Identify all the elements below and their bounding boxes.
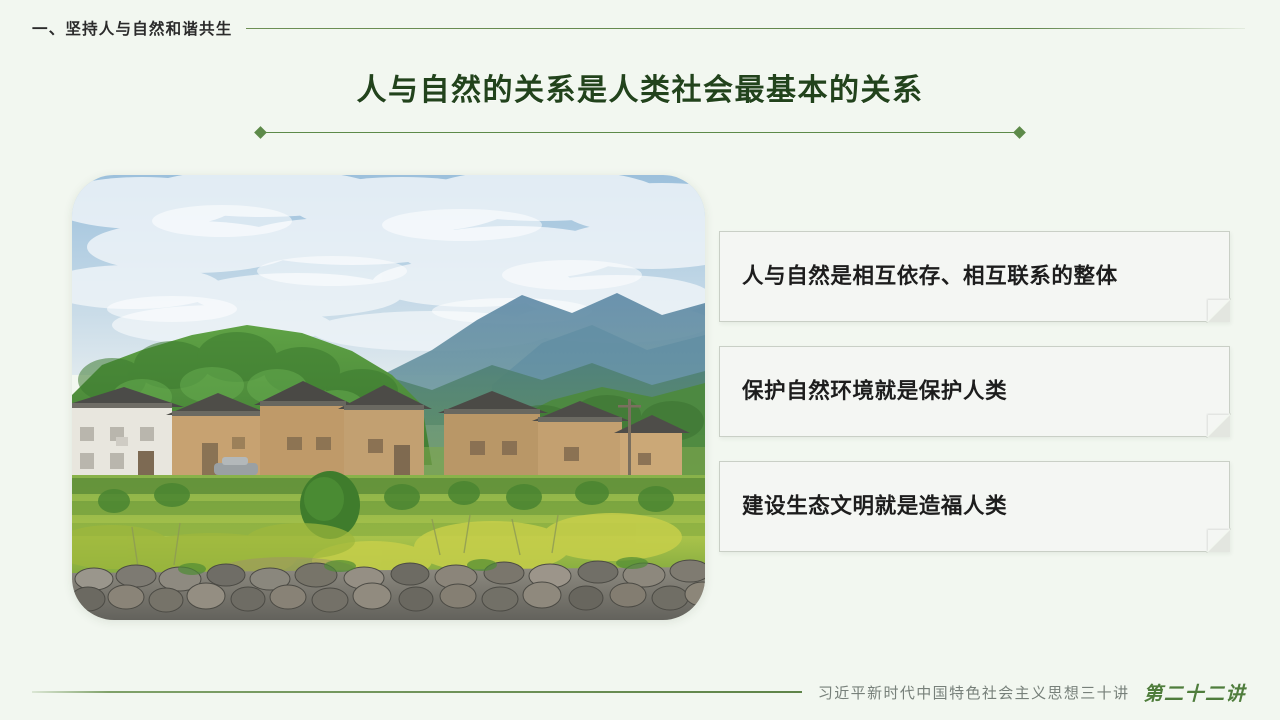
footer-divider-line xyxy=(32,691,802,692)
section-label: 一、坚持人与自然和谐共生 xyxy=(32,17,232,39)
statement-card[interactable]: 保护自然环境就是保护人类 xyxy=(719,346,1230,437)
statement-card-text: 建设生态文明就是造福人类 xyxy=(720,493,1033,521)
slide-root: 一、坚持人与自然和谐共生 人与自然的关系是人类社会最基本的关系 xyxy=(0,0,1280,720)
statement-card[interactable]: 建设生态文明就是造福人类 xyxy=(719,461,1230,552)
footer-lecture-number: 第二十二讲 xyxy=(1143,679,1246,706)
slide-header: 一、坚持人与自然和谐共生 xyxy=(0,0,1280,56)
title-divider xyxy=(256,128,1024,137)
card-fold-line xyxy=(1206,528,1231,553)
title-block: 人与自然的关系是人类社会最基本的关系 xyxy=(0,72,1280,137)
photo-illustration xyxy=(72,175,705,620)
header-divider-line xyxy=(246,28,1245,29)
footer-series-title: 习近平新时代中国特色社会主义思想三十讲 xyxy=(818,682,1130,703)
statement-card-text: 人与自然是相互依存、相互联系的整体 xyxy=(720,263,1144,291)
slide-footer: 习近平新时代中国特色社会主义思想三十讲 第二十二讲 xyxy=(0,664,1280,720)
title-divider-bar xyxy=(261,132,1019,133)
page-title: 人与自然的关系是人类社会最基本的关系 xyxy=(0,72,1280,110)
statement-card-list: 人与自然是相互依存、相互联系的整体 保护自然环境就是保护人类 建设生态文明就是造… xyxy=(719,231,1230,576)
card-fold-line xyxy=(1206,413,1231,438)
diamond-right-icon xyxy=(1013,126,1026,139)
village-landscape-photo xyxy=(72,175,705,620)
statement-card-text: 保护自然环境就是保护人类 xyxy=(720,378,1033,406)
statement-card[interactable]: 人与自然是相互依存、相互联系的整体 xyxy=(719,231,1230,322)
card-fold-line xyxy=(1206,298,1231,323)
